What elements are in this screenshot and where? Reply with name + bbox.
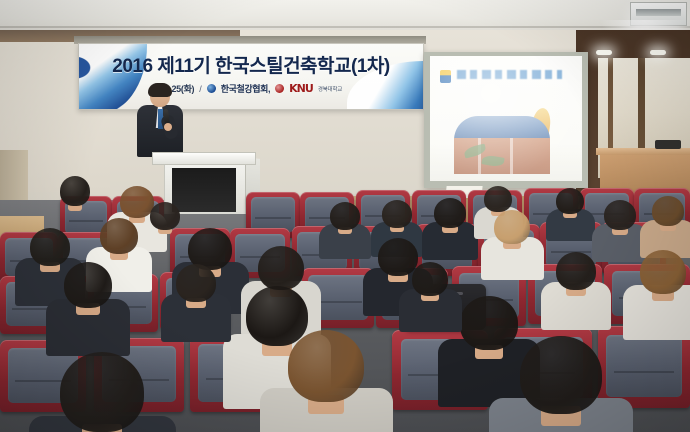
attendee-head — [604, 200, 636, 230]
attendee — [60, 352, 144, 432]
slide-logo-icon — [440, 70, 451, 83]
attendee — [100, 218, 138, 254]
presenter-hair — [148, 83, 172, 97]
attendee-head — [60, 352, 144, 432]
attendee — [382, 200, 412, 228]
attendee-head — [330, 202, 360, 230]
attendee — [288, 330, 364, 402]
presenter — [133, 85, 187, 157]
podium-front-panel — [172, 168, 236, 212]
attendee-head — [64, 262, 112, 308]
attendee — [64, 262, 112, 308]
light-tube — [636, 9, 681, 16]
attendee-head — [556, 188, 584, 214]
attendee — [484, 186, 512, 212]
banner-org-secondary-sub: 경북대학교 — [318, 85, 342, 93]
presenter-hand — [164, 123, 172, 131]
steel-association-logo-icon — [207, 84, 216, 93]
attendee — [176, 264, 216, 302]
attendee-head — [556, 252, 596, 290]
attendee-head — [150, 202, 180, 230]
attendee — [120, 186, 154, 218]
banner-org-primary: 한국철강협회, — [221, 82, 270, 95]
attendee-head — [494, 210, 530, 244]
attendee-head — [60, 176, 90, 206]
podium-top — [152, 152, 256, 165]
attendee — [494, 210, 530, 244]
banner-subtitle: 10.25(화) / 한국철강협회, KNU 경북대학교 — [79, 82, 423, 95]
slide-title-text — [457, 70, 562, 79]
attendee — [150, 202, 180, 230]
attendee — [412, 262, 448, 296]
ceiling-seam — [0, 26, 690, 28]
right-counter-top — [596, 148, 690, 155]
attendee-head — [460, 296, 518, 350]
attendee-head — [30, 228, 70, 266]
event-banner: 2016 제11기 한국스틸건축학교(1차) 10.25(화) / 한국철강협회… — [78, 43, 424, 110]
knu-logo-icon — [275, 84, 284, 93]
banner-separator: / — [199, 84, 202, 94]
attendee-head — [258, 246, 304, 290]
slide-illustration — [448, 116, 564, 174]
attendee-head — [100, 218, 138, 254]
attendee-head — [120, 186, 154, 218]
banner-title: 2016 제11기 한국스틸건축학교(1차) — [79, 51, 423, 78]
attendee-head — [640, 250, 686, 294]
attendee-head — [434, 198, 466, 228]
attendee — [60, 176, 90, 206]
attendee — [30, 228, 70, 266]
attendee — [640, 250, 686, 294]
attendee-head — [382, 200, 412, 228]
attendee — [556, 252, 596, 290]
attendee — [520, 336, 602, 414]
attendee — [556, 188, 584, 214]
banner-org-secondary: KNU — [289, 82, 313, 95]
counter-object — [655, 140, 681, 149]
downlight-icon — [596, 50, 612, 55]
attendee — [460, 296, 518, 350]
lecture-hall-photo: 2016 제11기 한국스틸건축학교(1차) 10.25(화) / 한국철강협회… — [0, 0, 690, 432]
projection-screen — [430, 56, 582, 181]
attendee — [258, 246, 304, 290]
seat-back-pad — [606, 335, 681, 397]
attendee-head — [484, 186, 512, 212]
seat-back-pad — [251, 197, 295, 232]
attendee-head — [520, 336, 602, 414]
downlight-icon — [650, 50, 666, 55]
slide-stripe — [510, 138, 513, 174]
attendee — [604, 200, 636, 230]
ceiling — [0, 0, 690, 34]
attendee-head — [412, 262, 448, 296]
attendee — [330, 202, 360, 230]
attendee-head — [652, 196, 684, 226]
attendee-head — [288, 330, 364, 402]
attendee — [434, 198, 466, 228]
attendee — [652, 196, 684, 226]
attendee-head — [176, 264, 216, 302]
